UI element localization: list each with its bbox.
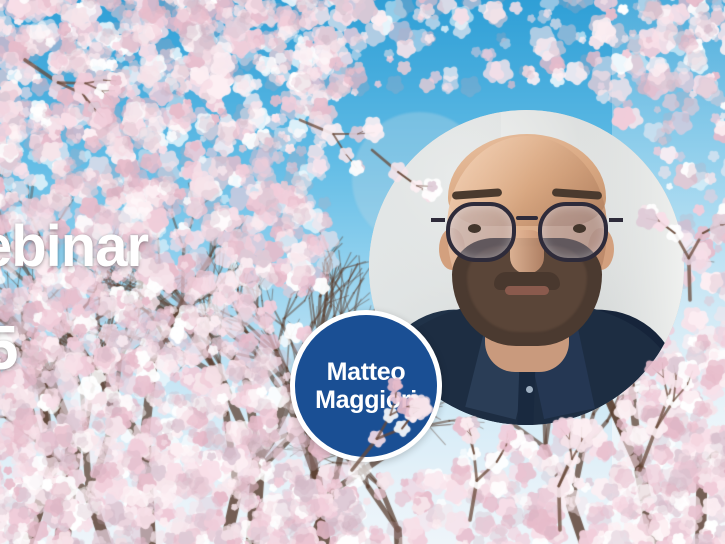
glasses-temple-left	[431, 218, 445, 222]
speaker-first-name: Matteo	[327, 358, 406, 386]
glasses-bridge	[516, 216, 538, 220]
headline-number-text: 5	[0, 318, 17, 380]
shirt-button	[526, 386, 533, 393]
eyeglasses	[442, 202, 612, 256]
glasses-temple-right	[609, 218, 623, 222]
lens-left	[446, 202, 516, 262]
speaker-last-name: Maggiori	[315, 386, 417, 414]
eye-left	[468, 224, 481, 233]
lens-right	[538, 202, 608, 262]
speaker-name-badge: Matteo Maggiori	[290, 310, 442, 462]
mouth	[505, 286, 549, 295]
eye-right	[573, 224, 586, 233]
headline-webinar-text: ebinar	[0, 218, 148, 276]
webinar-banner-image: ebinar 5	[0, 0, 725, 544]
